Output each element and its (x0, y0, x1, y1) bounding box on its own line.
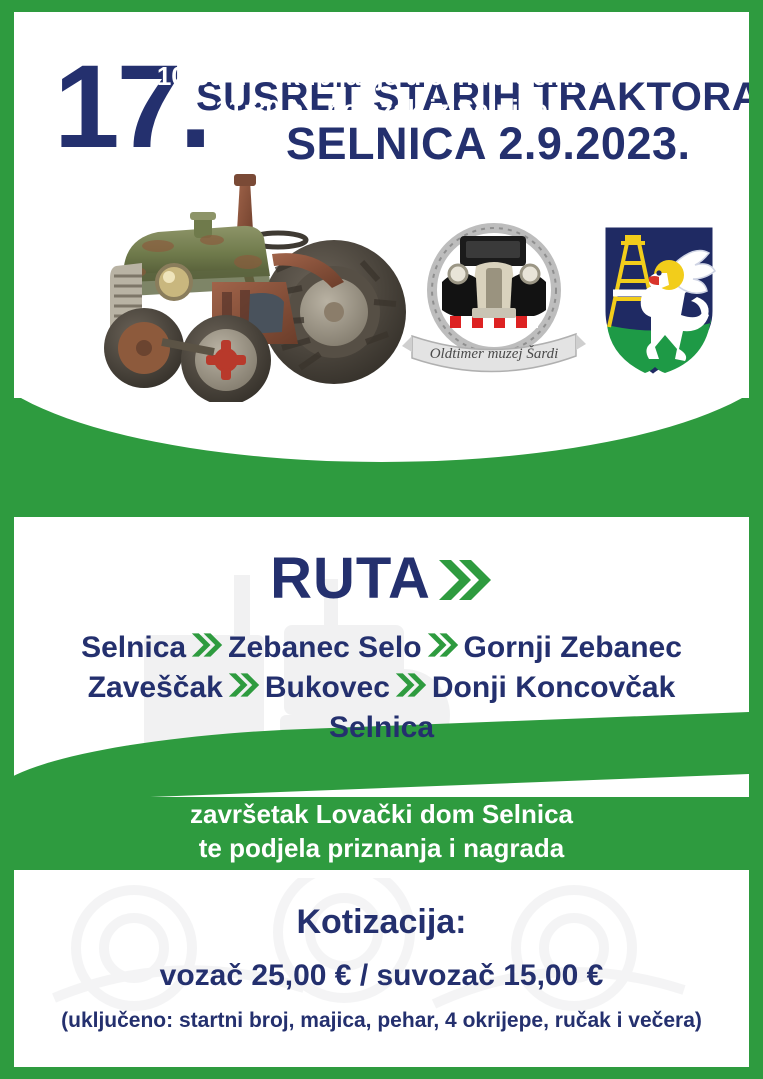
fee-prices: vozač 25,00 € / suvozač 15,00 € (14, 958, 749, 994)
schedule-line-2: 11:30 h - polazak iz Selnice (14, 93, 749, 126)
route-stop: Zebanec Selo (228, 631, 421, 664)
event-title-line2: SELNICA 2.9.2023. (286, 120, 691, 168)
route-stop: Gornji Zebanec (464, 631, 682, 664)
route-line-2: ZaveščakBukovecDonji Koncovčak (14, 669, 749, 709)
poster-root: 17. SUSRET STARIH TRAKTORA SELNICA 2.9.2… (0, 0, 763, 1079)
fee-watermark-wheels (14, 878, 749, 1028)
finish-line-1: završetak Lovački dom Selnica (14, 797, 749, 831)
route-stop: Donji Koncovčak (432, 671, 675, 704)
route-separator-chevron-icon (227, 671, 261, 709)
route-line-3: Selnica (14, 709, 749, 747)
route-separator-chevron-icon (190, 631, 224, 669)
coat-of-arms (597, 219, 721, 377)
route-heading-label: RUTA (270, 546, 431, 611)
route-stop: Selnica (81, 631, 186, 664)
route-heading-chevron-icon (437, 555, 493, 615)
front-wheel-right (181, 315, 271, 402)
route-stop: Zaveščak (88, 671, 223, 704)
headlight (157, 265, 191, 299)
route-list: SelnicaZebanec SeloGornji Zebanec Zavešč… (14, 629, 749, 747)
museum-logo: Oldtimer muzej Šardi (396, 212, 592, 392)
poster-page: 17. SUSRET STARIH TRAKTORA SELNICA 2.9.2… (14, 12, 749, 1067)
oldtimer-car-icon (442, 236, 546, 328)
fee-title: Kotizacija: (14, 902, 749, 942)
route-line-1: SelnicaZebanec SeloGornji Zebanec (14, 629, 749, 669)
route-separator-chevron-icon (426, 631, 460, 669)
route-panel: RUTA SelnicaZebanec SeloGornji Zebanec Z… (14, 517, 749, 797)
tractor-icon (66, 162, 406, 402)
route-stop: Bukovec (265, 671, 390, 704)
fee-note: (uključeno: startni broj, majica, pehar,… (14, 1008, 749, 1034)
route-stop: Selnica (329, 711, 434, 744)
route-separator-chevron-icon (394, 671, 428, 709)
finish-text: završetak Lovački dom Selnica te podjela… (14, 797, 749, 865)
front-wheel-left (104, 308, 184, 388)
schedule-text: 10:30 h - okupljanje u centru Selnice 11… (14, 60, 749, 126)
fee-panel: Kotizacija: vozač 25,00 € / suvozač 15,0… (14, 870, 749, 1067)
museum-logo-text: Oldtimer muzej Šardi (430, 345, 559, 362)
route-heading: RUTA (14, 549, 749, 615)
finish-line-2: te podjela priznanja i nagrada (14, 831, 749, 865)
schedule-line-1: 10:30 h - okupljanje u centru Selnice (14, 60, 749, 93)
tractor-photo (66, 162, 406, 402)
